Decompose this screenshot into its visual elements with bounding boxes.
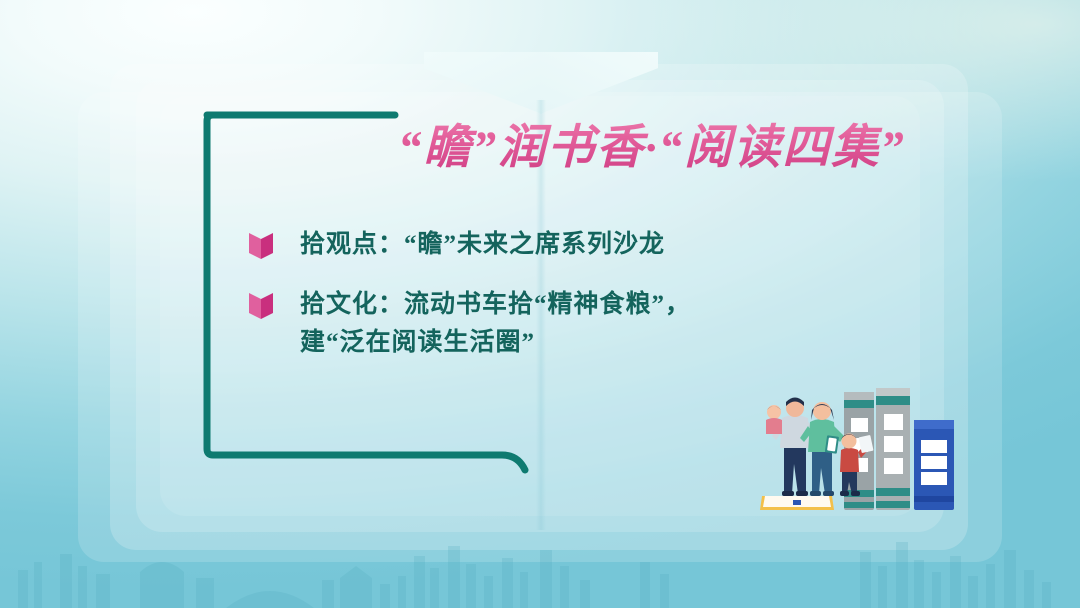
open-book-icon [248,292,274,320]
family-reading-illustration [748,378,968,518]
poster-canvas: “瞻”润书香·“阅读四集” 拾观点：“瞻”未来之席系列沙龙 拾文化：流动书车拾“… [0,0,1080,608]
list-item: 拾文化：流动书车拾“精神食粮”， 建“泛在阅读生活圈” [248,286,808,362]
baby-figure [766,405,782,434]
blue-book-icon [914,420,954,510]
list-item-line1: 拾观点：“瞻”未来之席系列沙龙 [300,231,665,258]
list-item: 拾观点：“瞻”未来之席系列沙龙 [248,226,808,264]
gray-book-icon [876,388,910,510]
yellow-open-book-base-icon [760,496,834,510]
bullet-list: 拾观点：“瞻”未来之席系列沙龙 拾文化：流动书车拾“精神食粮”， 建“泛在阅读生… [248,226,808,384]
page-title: “瞻”润书香·“阅读四集” [398,108,958,177]
list-item-line2: 建“泛在阅读生活圈” [300,324,691,362]
list-item-line1: 拾文化：流动书车拾“精神食粮”， [300,291,691,318]
mother-figure [800,402,844,496]
open-book-icon [248,232,274,260]
list-item-text: 拾观点：“瞻”未来之席系列沙龙 [300,226,665,264]
list-item-text: 拾文化：流动书车拾“精神食粮”， 建“泛在阅读生活圈” [300,286,691,362]
city-skyline-icon [0,516,1080,608]
